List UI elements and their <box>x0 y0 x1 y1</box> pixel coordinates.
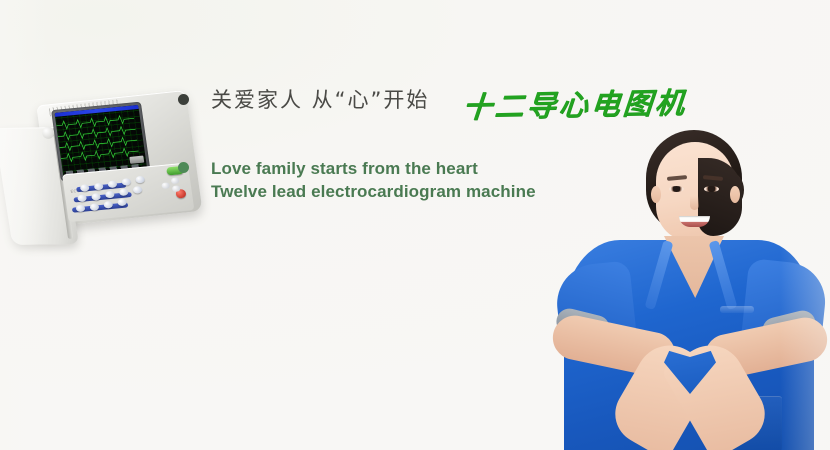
tagline-zh: 关爱家人 从“心”开始 <box>211 84 429 114</box>
nurse-chest-pocket-flap <box>720 306 754 313</box>
english-copy-block: Love family starts from the heart Twelve… <box>211 157 536 203</box>
nurse-eye-left <box>669 186 684 192</box>
english-line-2: Twelve lead electrocardiogram machine <box>211 180 536 203</box>
bullet-icon <box>178 162 189 173</box>
english-line-1: Love family starts from the heart <box>211 157 536 180</box>
bullet-icon <box>178 94 189 105</box>
nurse-eye-right <box>704 186 719 192</box>
ecg-machine-image: ECG <box>2 96 198 246</box>
english-copy-row: Love family starts from the heart Twelve… <box>178 157 536 203</box>
device-nav-left[interactable] <box>161 182 170 189</box>
nurse-nose <box>690 196 699 210</box>
screen-logo-mark <box>129 156 144 164</box>
nurse-photo <box>548 128 830 450</box>
tagline-row: 关爱家人 从“心”开始 <box>178 84 429 114</box>
device-key[interactable] <box>121 178 131 186</box>
nurse-ear-right <box>730 186 740 203</box>
device-key[interactable] <box>135 176 145 184</box>
headline-zh: 十二导心电图机 <box>461 80 689 127</box>
product-banner: ECG <box>0 0 830 450</box>
nurse-ear-left <box>651 186 661 203</box>
device-key[interactable] <box>133 186 143 194</box>
